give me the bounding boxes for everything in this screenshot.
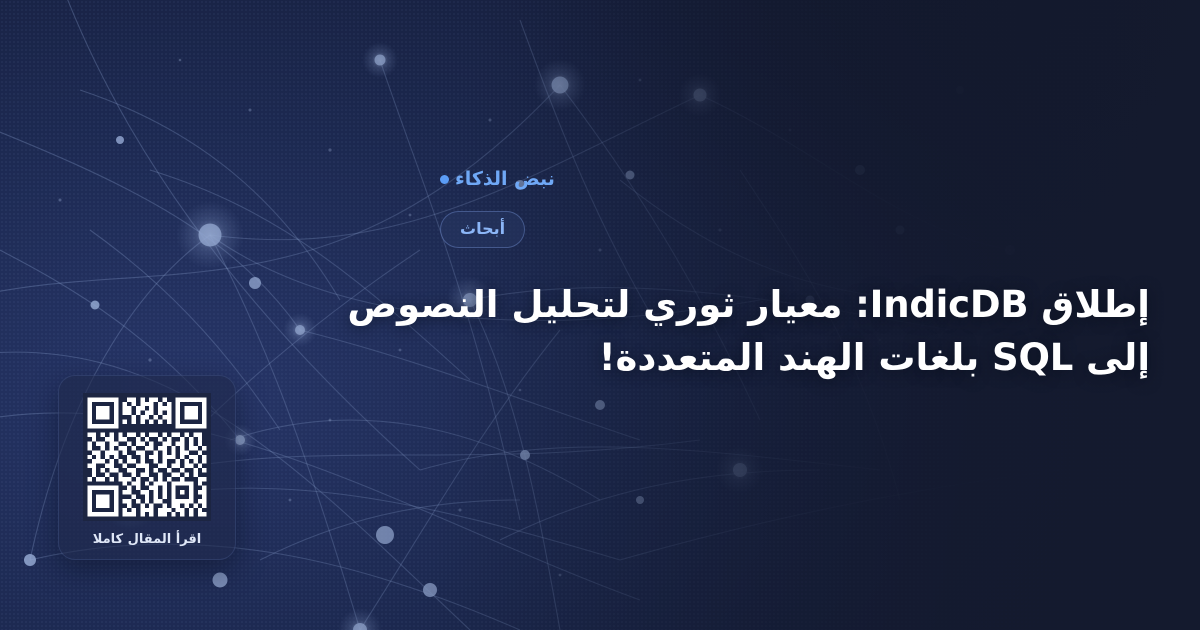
headline-line-2: إلى SQL بلغات الهند المتعددة!	[440, 331, 1150, 385]
text-column: نبض الذكاء أبحاث إطلاق IndicDB: معيار ثو…	[440, 0, 1200, 630]
brand-label: نبض الذكاء	[455, 170, 555, 189]
bullet-dot-icon	[440, 175, 449, 184]
category-badge[interactable]: أبحاث	[440, 211, 525, 248]
social-share-card: نبض الذكاء أبحاث إطلاق IndicDB: معيار ثو…	[0, 0, 1200, 630]
brand-name: نبض الذكاء	[440, 170, 1150, 189]
page-title: إطلاق IndicDB: معيار ثوري لتحليل النصوص …	[440, 278, 1150, 385]
headline-line-1: إطلاق IndicDB: معيار ثوري لتحليل النصوص	[440, 278, 1150, 332]
qr-card-caption: اقرأ المقال كاملا	[93, 532, 202, 547]
qr-code-icon[interactable]	[83, 393, 211, 521]
qr-code-card[interactable]: اقرأ المقال كاملا	[58, 375, 236, 560]
badge-row: أبحاث	[440, 211, 1150, 248]
